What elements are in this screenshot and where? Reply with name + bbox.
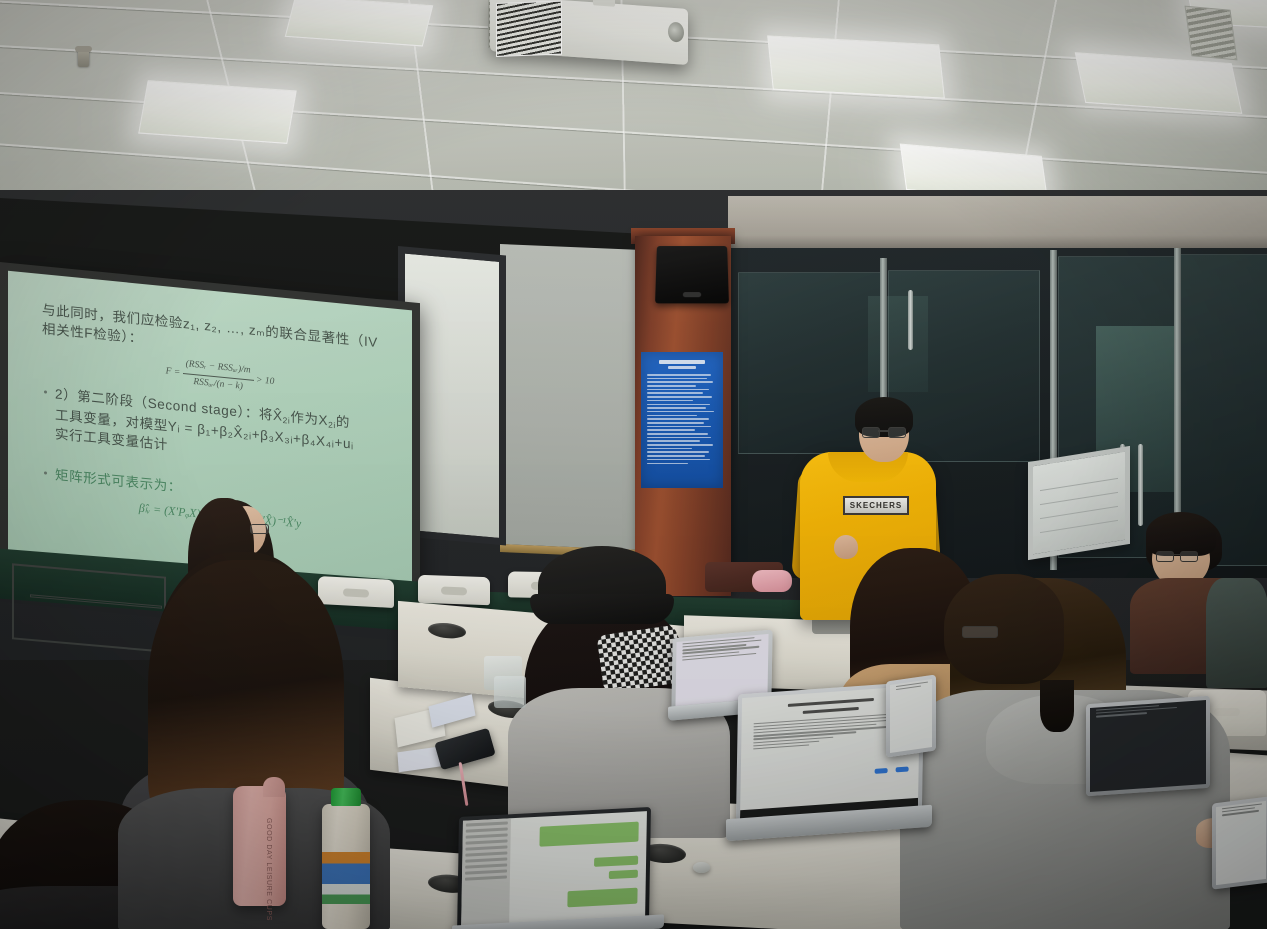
notice-text-line [647,404,710,406]
notice-text-line [647,407,706,409]
projector-mount [593,0,615,7]
laptop-screen[interactable] [1212,796,1267,889]
notice-text-line [647,440,700,442]
notice-text-line [647,426,711,428]
notice-text-line [647,451,709,453]
earbud [693,862,710,873]
doc-title-bar [788,698,874,707]
chat-list-item[interactable] [465,875,507,880]
notice-text-line [647,415,697,417]
notice-text-line [647,396,712,398]
bucket-hat-brim [530,594,674,624]
ceiling-light-panel [767,35,945,98]
chat-bubble-outgoing [594,856,638,867]
rack-shelf-line [1040,506,1117,520]
notice-text-line [647,374,711,376]
doc-action-buttons[interactable] [872,758,911,779]
pink-thermos: GOOD DAY LEISURE CUPS [233,786,286,906]
presenter-glasses-icon [862,427,906,436]
chat-bubble-outgoing [608,870,638,880]
handbag-pink [752,570,792,592]
notice-text-line [647,459,710,461]
laptop-display[interactable] [461,811,647,929]
notice-text-line [647,433,708,435]
laptop-display[interactable] [1090,700,1206,792]
wall-speaker [655,246,729,303]
chat-bubble-outgoing [539,822,639,847]
notice-text-line [647,392,703,394]
chat-bubble-outgoing [567,888,637,908]
ceiling-light-panel [138,80,297,144]
chair[interactable] [418,575,490,606]
rack-shelf-line [1040,520,1117,534]
classroom-photo-scene: 与此同时，我们应检验z₁, z₂, …, zₘ的联合显著性（IV 相关性F检验）… [0,0,1267,929]
notice-text-line [647,444,713,446]
notice-title-bar [659,360,705,364]
chat-sidebar[interactable] [461,818,511,929]
chat-list-item[interactable] [465,845,507,850]
chat-list-item[interactable] [465,863,507,868]
bottle-cap [331,788,361,806]
rack-shelf-line [1040,478,1117,492]
student-glasses-icon [962,626,998,638]
notice-text-line [647,455,705,457]
notice-text-line [647,400,693,402]
projector-lens [668,22,684,43]
glass-cup [494,676,526,708]
notice-text-line [647,418,709,420]
ceiling-projector [490,0,688,65]
student-glasses-icon [250,524,269,534]
formula1-lhs: F = [166,367,181,378]
chair[interactable] [318,576,394,608]
bench-rail [12,563,166,652]
door-handle[interactable] [1138,444,1143,526]
glasses-lens-right [888,427,906,438]
notice-text-line [647,463,688,465]
notice-text-line [647,429,695,431]
white-equipment-rack [1028,446,1130,560]
chat-list-item[interactable] [466,833,508,838]
student-torso-neighbour [1206,578,1267,688]
bottle-label [322,852,370,904]
thermos-label: GOOD DAY LEISURE CUPS [263,818,272,921]
projector-vent-grill [496,1,562,57]
glasses-bridge [1172,554,1180,555]
doc-subtitle-bar [803,707,859,713]
laptop-screen[interactable] [457,807,651,929]
bullet1-part3: 的 [336,414,350,430]
notice-text-line [647,378,707,380]
presenter-hand [834,535,858,559]
notice-text-line [647,411,714,413]
formula1-fraction: (RSSᵣ − RSSᵤᵣ)/m RSSᵤᵣ/(n − k) [183,358,254,395]
glasses-lens-left [1156,551,1174,562]
neck-shadow [1040,680,1074,732]
student-hair-top [1146,512,1216,556]
rack-shelf-line [1040,492,1117,506]
chat-list-item[interactable] [466,839,508,844]
cable-grommet [428,622,466,640]
laptop-display[interactable] [1216,801,1266,885]
glasses-bridge [878,430,888,432]
drink-bottle [322,804,370,929]
formula1-comparison: > 10 [256,376,274,388]
glasses-lens-left [862,427,880,438]
notice-subtitle-bar [668,366,696,369]
upper-wall-beam [728,196,1267,252]
laptop-display[interactable] [890,679,932,753]
secondary-pulldown-screen [500,244,648,550]
screen-reflection [868,296,928,392]
doc-button-primary[interactable] [874,768,887,774]
laptop-screen[interactable] [886,674,936,757]
notice-text-line [647,437,711,439]
notice-text-line [647,448,692,450]
bullet1-sub2: 2i [328,420,336,431]
notice-text-line [647,422,704,424]
ceiling-air-vent [1184,6,1237,61]
notice-text-line [647,381,713,383]
chat-list-item[interactable] [465,857,507,862]
houndstooth-scarf [596,625,683,694]
hoodie-brand-logo: SKECHERS [843,496,909,515]
glasses-lens-right [1180,551,1198,562]
chat-list-item[interactable] [465,869,507,874]
notice-text-line [647,385,696,387]
laptop-screen[interactable] [1086,696,1210,797]
bullet1-part2: 作为X [290,410,328,429]
notice-text-line [647,389,709,391]
blue-notice-board [641,352,723,488]
student-glasses-icon [1156,551,1196,560]
chat-list-item[interactable] [465,851,507,856]
sprinkler-head [78,50,89,67]
door-handle[interactable] [908,290,913,350]
chat-list-item[interactable] [466,827,508,832]
chat-list-item[interactable] [466,821,508,826]
doc-button-secondary[interactable] [896,766,909,772]
